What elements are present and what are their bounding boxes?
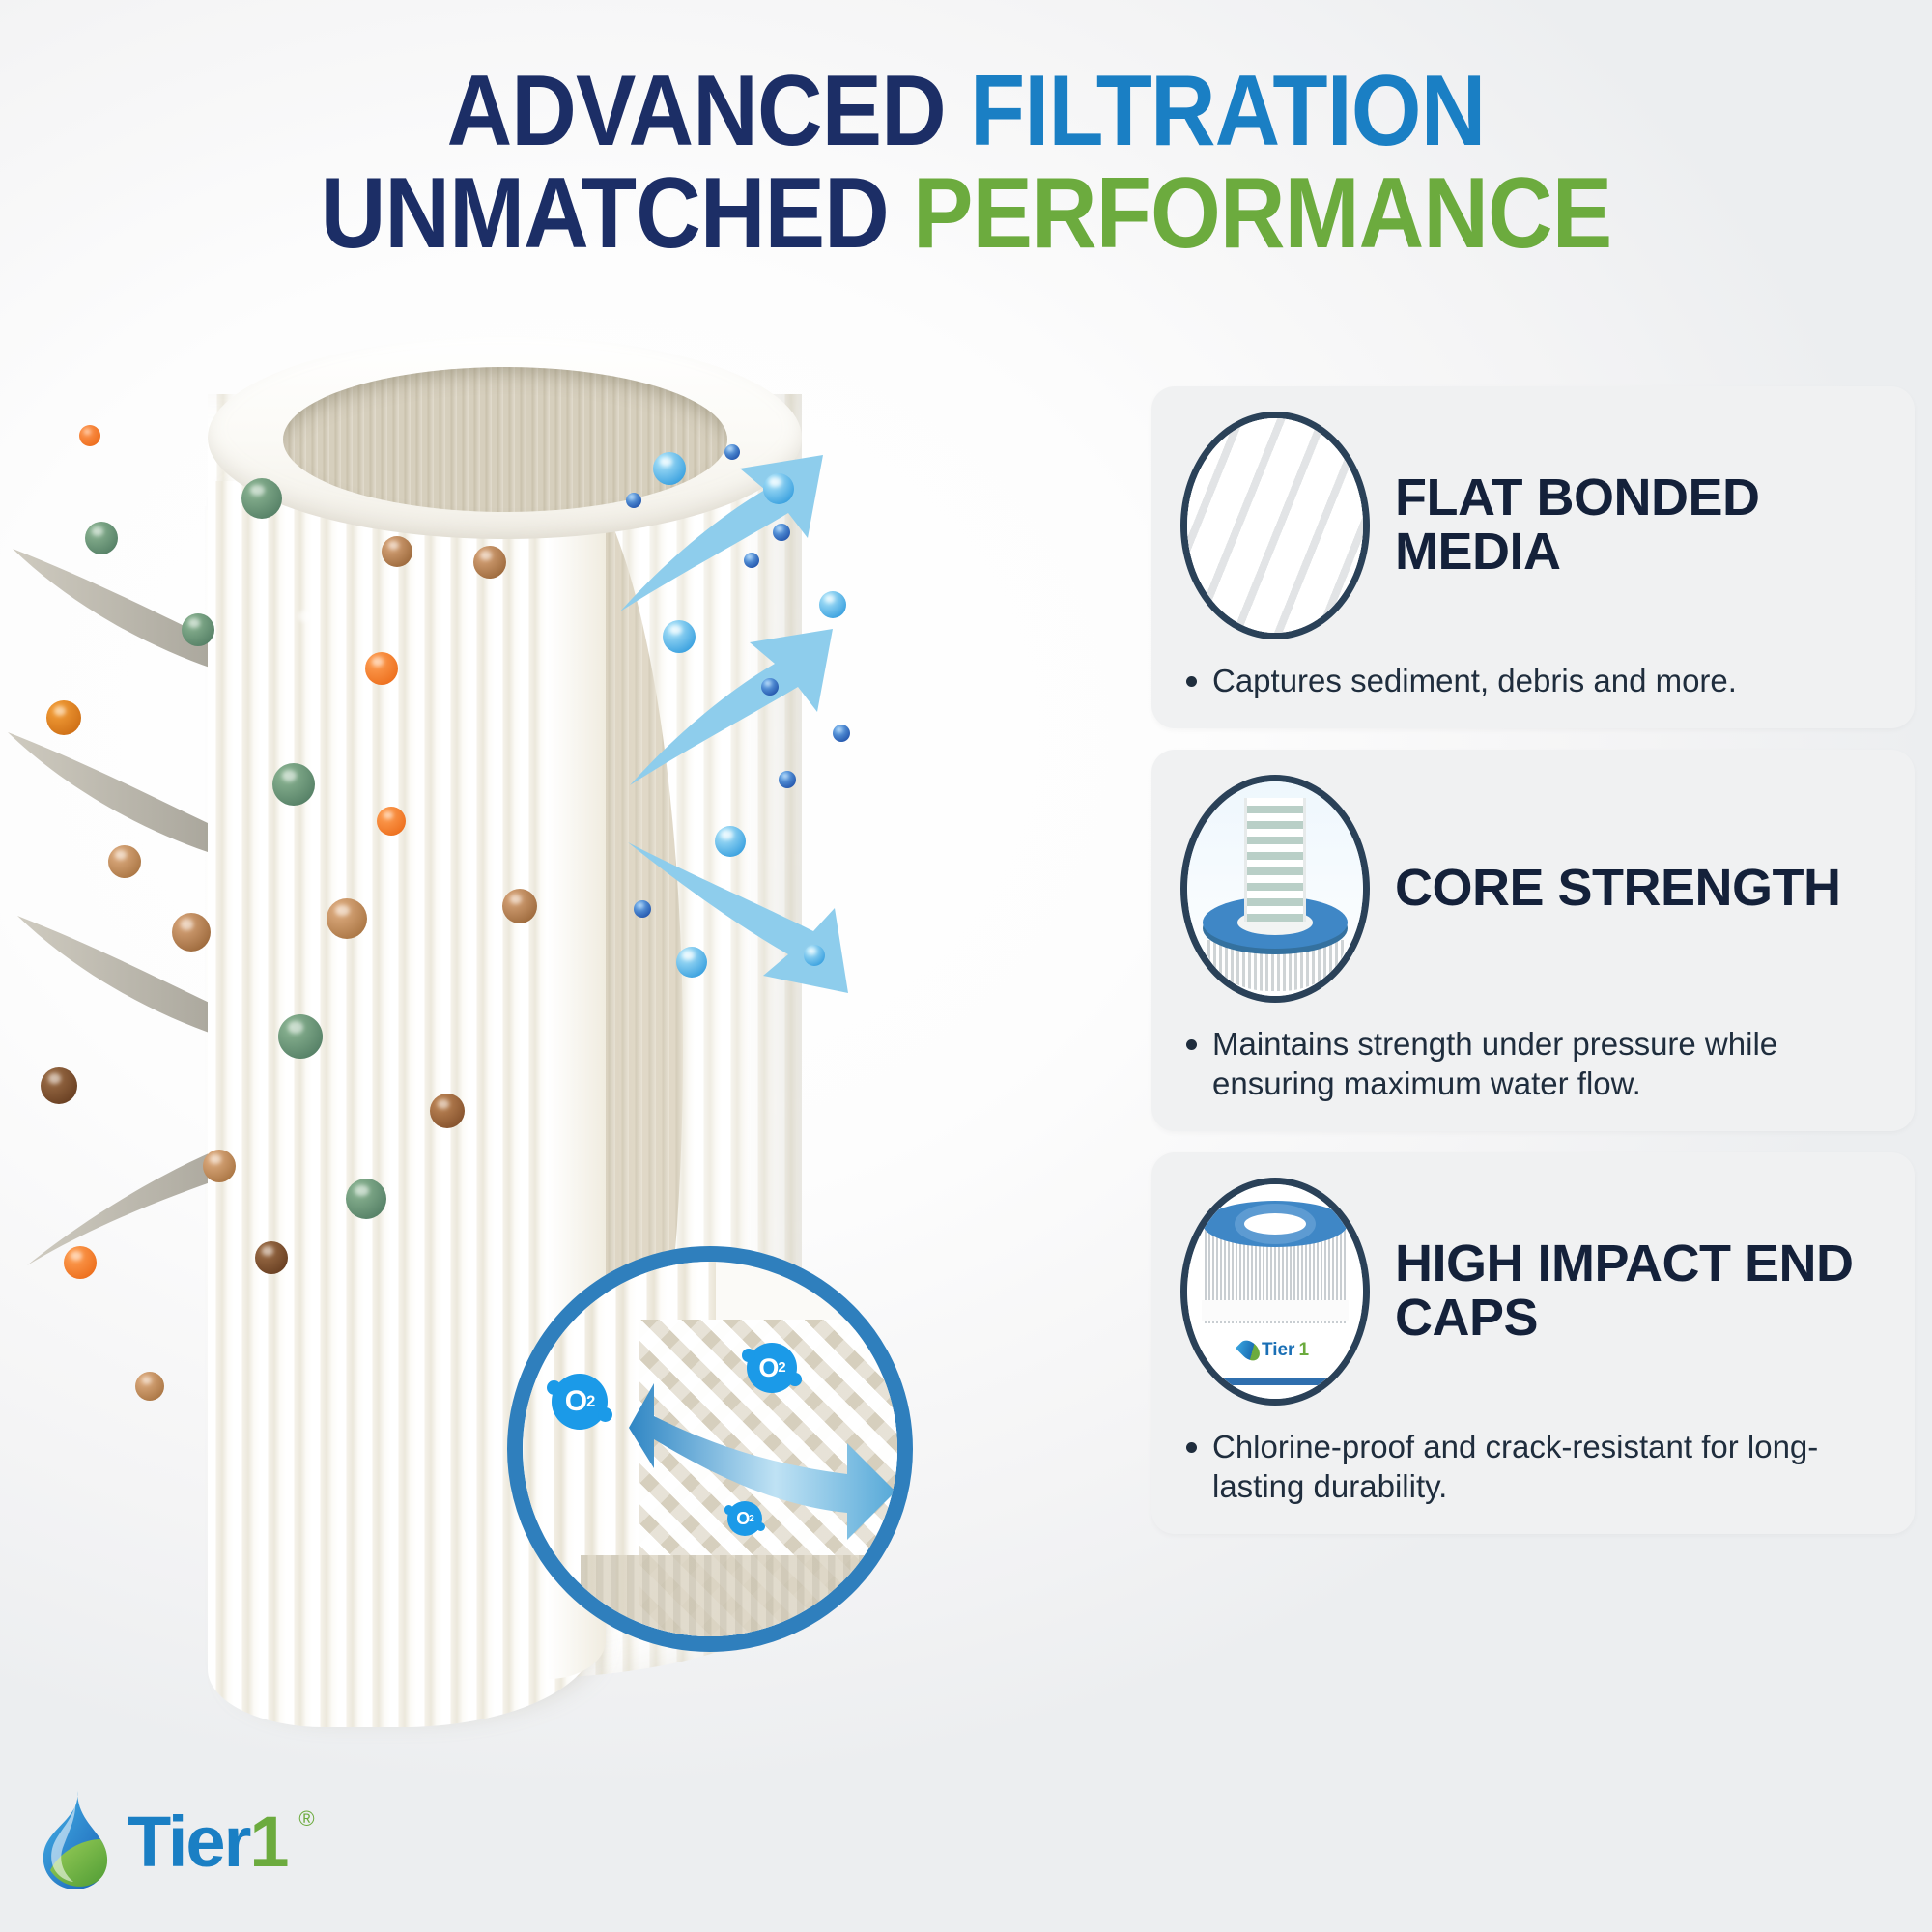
particle [377, 807, 406, 836]
core-tube [1244, 798, 1306, 922]
bullet-item: Chlorine-proof and crack-resistant for l… [1186, 1427, 1886, 1507]
card-bullets: Captures sediment, debris and more. [1180, 661, 1886, 701]
particle [502, 889, 537, 923]
card-bullets: Maintains strength under pressure while … [1180, 1024, 1886, 1104]
water-droplet [819, 591, 846, 618]
bullet-text: Maintains strength under pressure while … [1212, 1024, 1886, 1104]
brand-logo: Tier1® [33, 1789, 288, 1893]
magnifier-circle: O2 O2 O2 O2 [507, 1246, 913, 1652]
particle [41, 1067, 77, 1104]
title-line-2: UNMATCHED PERFORMANCE [97, 162, 1835, 265]
title-word-unmatched: UNMATCHED [321, 157, 889, 270]
water-droplet [663, 620, 696, 653]
bullet-text: Chlorine-proof and crack-resistant for l… [1212, 1427, 1886, 1507]
particle [241, 478, 282, 519]
o2-molecule: O2 [830, 1267, 874, 1312]
cartridge-illustration: Tier1 [1187, 1184, 1363, 1399]
particle [79, 425, 100, 446]
particle [365, 652, 398, 685]
particle [278, 1014, 323, 1059]
bullet-dot-icon [1186, 1039, 1197, 1050]
bullet-item: Maintains strength under pressure while … [1186, 1024, 1886, 1104]
particle [430, 1094, 465, 1128]
title-word-performance: PERFORMANCE [913, 157, 1611, 270]
o2-molecule: O2 [747, 1343, 797, 1393]
brand-number-text: 1 [249, 1802, 287, 1882]
particle [272, 763, 315, 806]
registered-mark: ® [298, 1806, 312, 1832]
o2-molecule: O2 [727, 1501, 762, 1536]
water-droplet [715, 826, 746, 857]
water-droplet [804, 945, 825, 966]
water-droplet [724, 444, 740, 460]
particle [182, 613, 214, 646]
card-header: Tier1 HIGH IMPACT END CAPS [1180, 1178, 1886, 1406]
particle [255, 1241, 288, 1274]
particle [135, 1372, 164, 1401]
cartridge-band [1202, 1300, 1349, 1321]
filter-illustration: O2 O2 O2 O2 [0, 280, 1121, 1864]
tier1-drop-icon [1236, 1337, 1264, 1365]
core-illustration [1187, 781, 1363, 996]
title-line-1: ADVANCED FILTRATION [97, 60, 1835, 162]
weave-texture [1180, 412, 1370, 639]
particle [46, 700, 81, 735]
particle [382, 536, 412, 567]
magnifier-content: O2 O2 O2 O2 [523, 1262, 897, 1636]
outflow-arrow-1 [609, 449, 831, 623]
card-bullets: Chlorine-proof and crack-resistant for l… [1180, 1427, 1886, 1507]
magnified-flow-arrows [619, 1368, 909, 1580]
water-droplet [626, 493, 641, 508]
water-droplet [653, 452, 686, 485]
card-header: CORE STRENGTH [1180, 775, 1886, 1003]
filter-core-thumbnail-icon [1180, 775, 1370, 1003]
particle [327, 898, 367, 939]
water-droplet [833, 724, 850, 742]
bonded-media-thumbnail-icon [1180, 412, 1370, 639]
water-droplet [773, 524, 790, 541]
feature-card-high-impact-end-caps[interactable]: Tier1 HIGH IMPACT END CAPS Chlorine-proo… [1151, 1152, 1915, 1534]
feature-card-flat-bonded-media[interactable]: FLAT BONDED MEDIA Captures sediment, deb… [1151, 386, 1915, 728]
bullet-text: Captures sediment, debris and more. [1212, 661, 1737, 701]
card-heading: HIGH IMPACT END CAPS [1395, 1237, 1886, 1345]
page-title: ADVANCED FILTRATION UNMATCHED PERFORMANC… [0, 60, 1932, 265]
water-droplet [761, 678, 779, 696]
title-word-filtration: FILTRATION [970, 55, 1485, 167]
feature-card-core-strength[interactable]: CORE STRENGTH Maintains strength under p… [1151, 750, 1915, 1131]
outflow-arrow-3 [618, 831, 860, 1005]
bullet-item: Captures sediment, debris and more. [1186, 661, 1886, 701]
water-droplet [676, 947, 707, 978]
card-heading: CORE STRENGTH [1395, 862, 1841, 916]
particle [64, 1246, 97, 1279]
brand-name-text: Tier [128, 1802, 249, 1882]
particle [288, 604, 330, 646]
cartridge-brand-name: Tier [1262, 1340, 1295, 1361]
brand-wordmark: Tier1® [128, 1801, 288, 1883]
water-droplet [779, 771, 796, 788]
outflow-arrow-2 [618, 623, 840, 797]
infographic-canvas: ADVANCED FILTRATION UNMATCHED PERFORMANC… [0, 0, 1932, 1932]
particle [172, 913, 211, 952]
o2-molecule: O2 [552, 1374, 608, 1430]
cartridge-thumbnail-icon: Tier1 [1180, 1178, 1370, 1406]
water-droplet [634, 900, 651, 918]
bullet-dot-icon [1186, 676, 1197, 687]
card-heading: FLAT BONDED MEDIA [1395, 471, 1886, 579]
particle [473, 546, 506, 579]
water-droplet [763, 473, 794, 504]
water-droplet [744, 553, 759, 568]
cartridge-end-cap [1203, 1201, 1348, 1247]
bullet-dot-icon [1186, 1442, 1197, 1453]
particle [346, 1179, 386, 1219]
particle [203, 1150, 236, 1182]
particle [85, 522, 118, 554]
card-header: FLAT BONDED MEDIA [1180, 412, 1886, 639]
particle [108, 845, 141, 878]
feature-card-list: FLAT BONDED MEDIA Captures sediment, deb… [1151, 386, 1915, 1555]
cartridge-label: Tier1 [1202, 1323, 1349, 1385]
tier1-drop-leaf-icon [33, 1789, 114, 1893]
title-word-advanced: ADVANCED [447, 55, 946, 167]
cartridge-brand-number: 1 [1298, 1340, 1309, 1361]
